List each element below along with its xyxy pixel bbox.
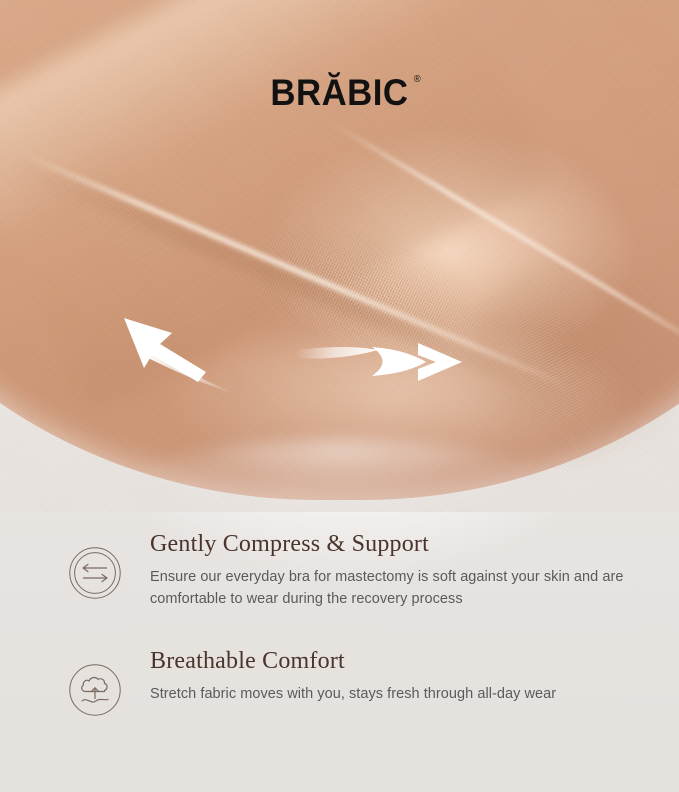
feature-description: Stretch fabric moves with you, stays fre… xyxy=(150,683,556,705)
feature-title: Gently Compress & Support xyxy=(150,530,630,559)
brand-logo-wordmark: BRĂBIC xyxy=(270,72,408,113)
compress-arrows-icon xyxy=(68,546,122,600)
feature-item-compress: Gently Compress & Support Ensure our eve… xyxy=(0,528,679,611)
feature-text-compress: Gently Compress & Support Ensure our eve… xyxy=(150,528,630,611)
breathable-cloud-icon xyxy=(68,663,122,717)
feature-item-breathable: Breathable Comfort Stretch fabric moves … xyxy=(0,645,679,705)
brand-logo: BRĂBIC® xyxy=(0,74,679,111)
registered-trademark-icon: ® xyxy=(414,75,421,85)
product-feature-page: BRĂBIC® Gently Compress & Support Ensure… xyxy=(0,0,679,792)
feature-description: Ensure our everyday bra for mastectomy i… xyxy=(150,566,630,611)
feature-text-breathable: Breathable Comfort Stretch fabric moves … xyxy=(150,645,556,705)
feature-title: Breathable Comfort xyxy=(150,647,556,676)
feature-list: Gently Compress & Support Ensure our eve… xyxy=(0,528,679,739)
brand-logo-text: BRĂBIC® xyxy=(270,74,408,111)
